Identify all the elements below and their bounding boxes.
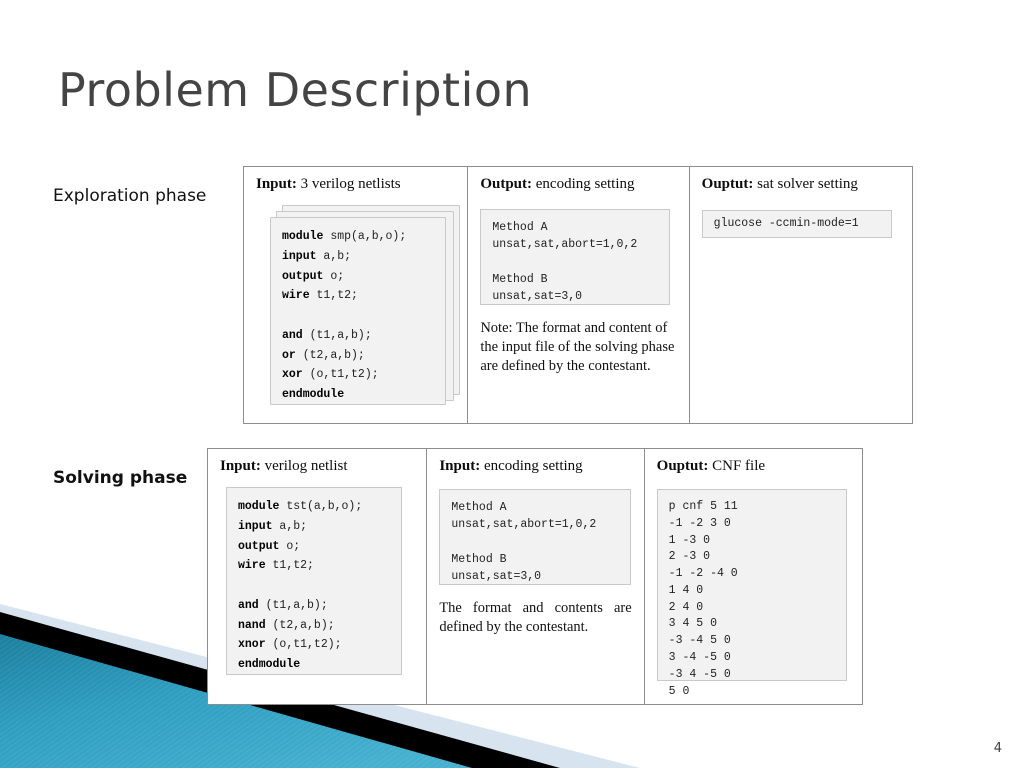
column-header-value: verilog netlist xyxy=(261,458,348,474)
page-number: 4 xyxy=(994,741,1002,756)
column-header-value: encoding setting xyxy=(532,176,634,192)
column-header-value: sat solver setting xyxy=(753,176,858,192)
verilog-code-solving: module tst(a,b,o); input a,b; output o; … xyxy=(226,487,402,675)
encoding-setting-code-solving: Method A unsat,sat,abort=1,0,2 Method B … xyxy=(439,489,631,585)
column-header: Input: verilog netlist xyxy=(220,458,414,475)
column-header: Ouptut: CNF file xyxy=(657,458,850,475)
column-header-label: Output: xyxy=(480,176,532,192)
solving-col-input-netlist: Input: verilog netlist module tst(a,b,o)… xyxy=(208,449,427,704)
exploration-col-output-solver: Ouptut: sat solver setting glucose -ccmi… xyxy=(690,167,912,423)
exploration-col-output-encoding: Output: encoding setting Method A unsat,… xyxy=(468,167,689,423)
column-header-label: Input: xyxy=(256,176,297,192)
column-header: Input: encoding setting xyxy=(439,458,631,475)
sat-solver-setting-code: glucose -ccmin-mode=1 xyxy=(702,210,892,238)
exploration-col-input-netlists: Input: 3 verilog netlists module smp(a,b… xyxy=(244,167,468,423)
solving-col-output-cnf: Ouptut: CNF file p cnf 5 11 -1 -2 3 0 1 … xyxy=(645,449,862,704)
exploration-phase-table: Input: 3 verilog netlists module smp(a,b… xyxy=(243,166,913,424)
column-header-value: 3 verilog netlists xyxy=(297,176,401,192)
solving-phase-table: Input: verilog netlist module tst(a,b,o)… xyxy=(207,448,863,705)
solving-col-input-encoding: Input: encoding setting Method A unsat,s… xyxy=(427,449,644,704)
column-header-value: encoding setting xyxy=(480,458,582,474)
column-header-label: Input: xyxy=(220,458,261,474)
slide-canvas: Problem Description Exploration phase So… xyxy=(0,0,1024,768)
stacked-netlist-pages: module smp(a,b,o); input a,b; output o; … xyxy=(270,217,446,405)
exploration-note: Note: The format and content of the inpu… xyxy=(480,319,676,376)
solving-note: The format and contents are defined by t… xyxy=(439,599,631,637)
column-header: Output: encoding setting xyxy=(480,176,676,193)
column-header: Ouptut: sat solver setting xyxy=(702,176,900,193)
solving-phase-label: Solving phase xyxy=(53,468,187,488)
exploration-phase-label: Exploration phase xyxy=(53,186,206,206)
column-header-label: Ouptut: xyxy=(702,176,754,192)
column-header-label: Input: xyxy=(439,458,480,474)
encoding-setting-code-exploration: Method A unsat,sat,abort=1,0,2 Method B … xyxy=(480,209,670,305)
column-header-label: Ouptut: xyxy=(657,458,709,474)
page-title: Problem Description xyxy=(58,66,532,114)
cnf-file-code: p cnf 5 11 -1 -2 3 0 1 -3 0 2 -3 0 -1 -2… xyxy=(657,489,847,681)
column-header: Input: 3 verilog netlists xyxy=(256,176,455,193)
column-header-value: CNF file xyxy=(708,458,765,474)
verilog-code-exploration: module smp(a,b,o); input a,b; output o; … xyxy=(270,217,446,405)
